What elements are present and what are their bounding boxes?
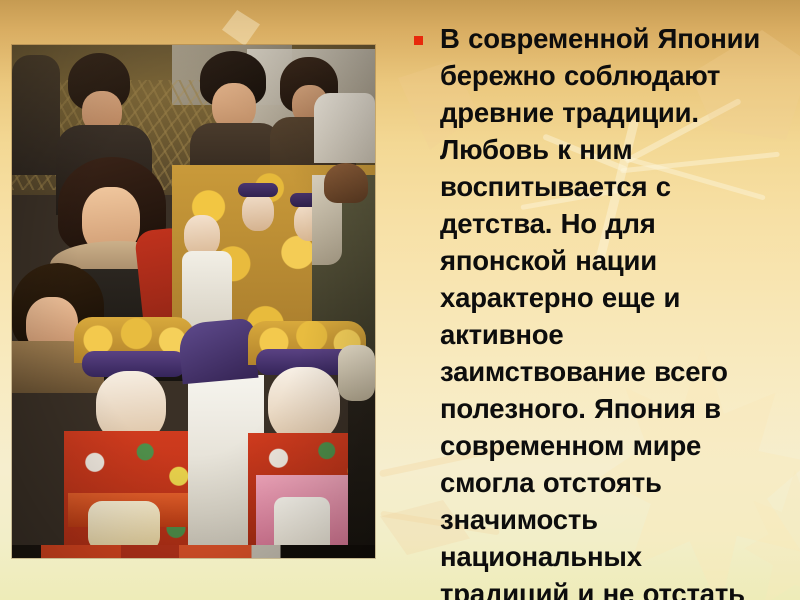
bullet-row: В современной Японии бережно соблюдают д… (406, 20, 790, 600)
decor-wedge-above-photo (222, 10, 260, 46)
slide-text-block: В современной Японии бережно соблюдают д… (406, 20, 790, 600)
slide-canvas: В современной Японии бережно соблюдают д… (0, 0, 800, 600)
japanese-festival-children-photo (12, 45, 375, 558)
body-paragraph: В современной Японии бережно соблюдают д… (406, 20, 790, 600)
bullet-square-icon (414, 36, 423, 45)
photo-vignette (12, 45, 375, 558)
